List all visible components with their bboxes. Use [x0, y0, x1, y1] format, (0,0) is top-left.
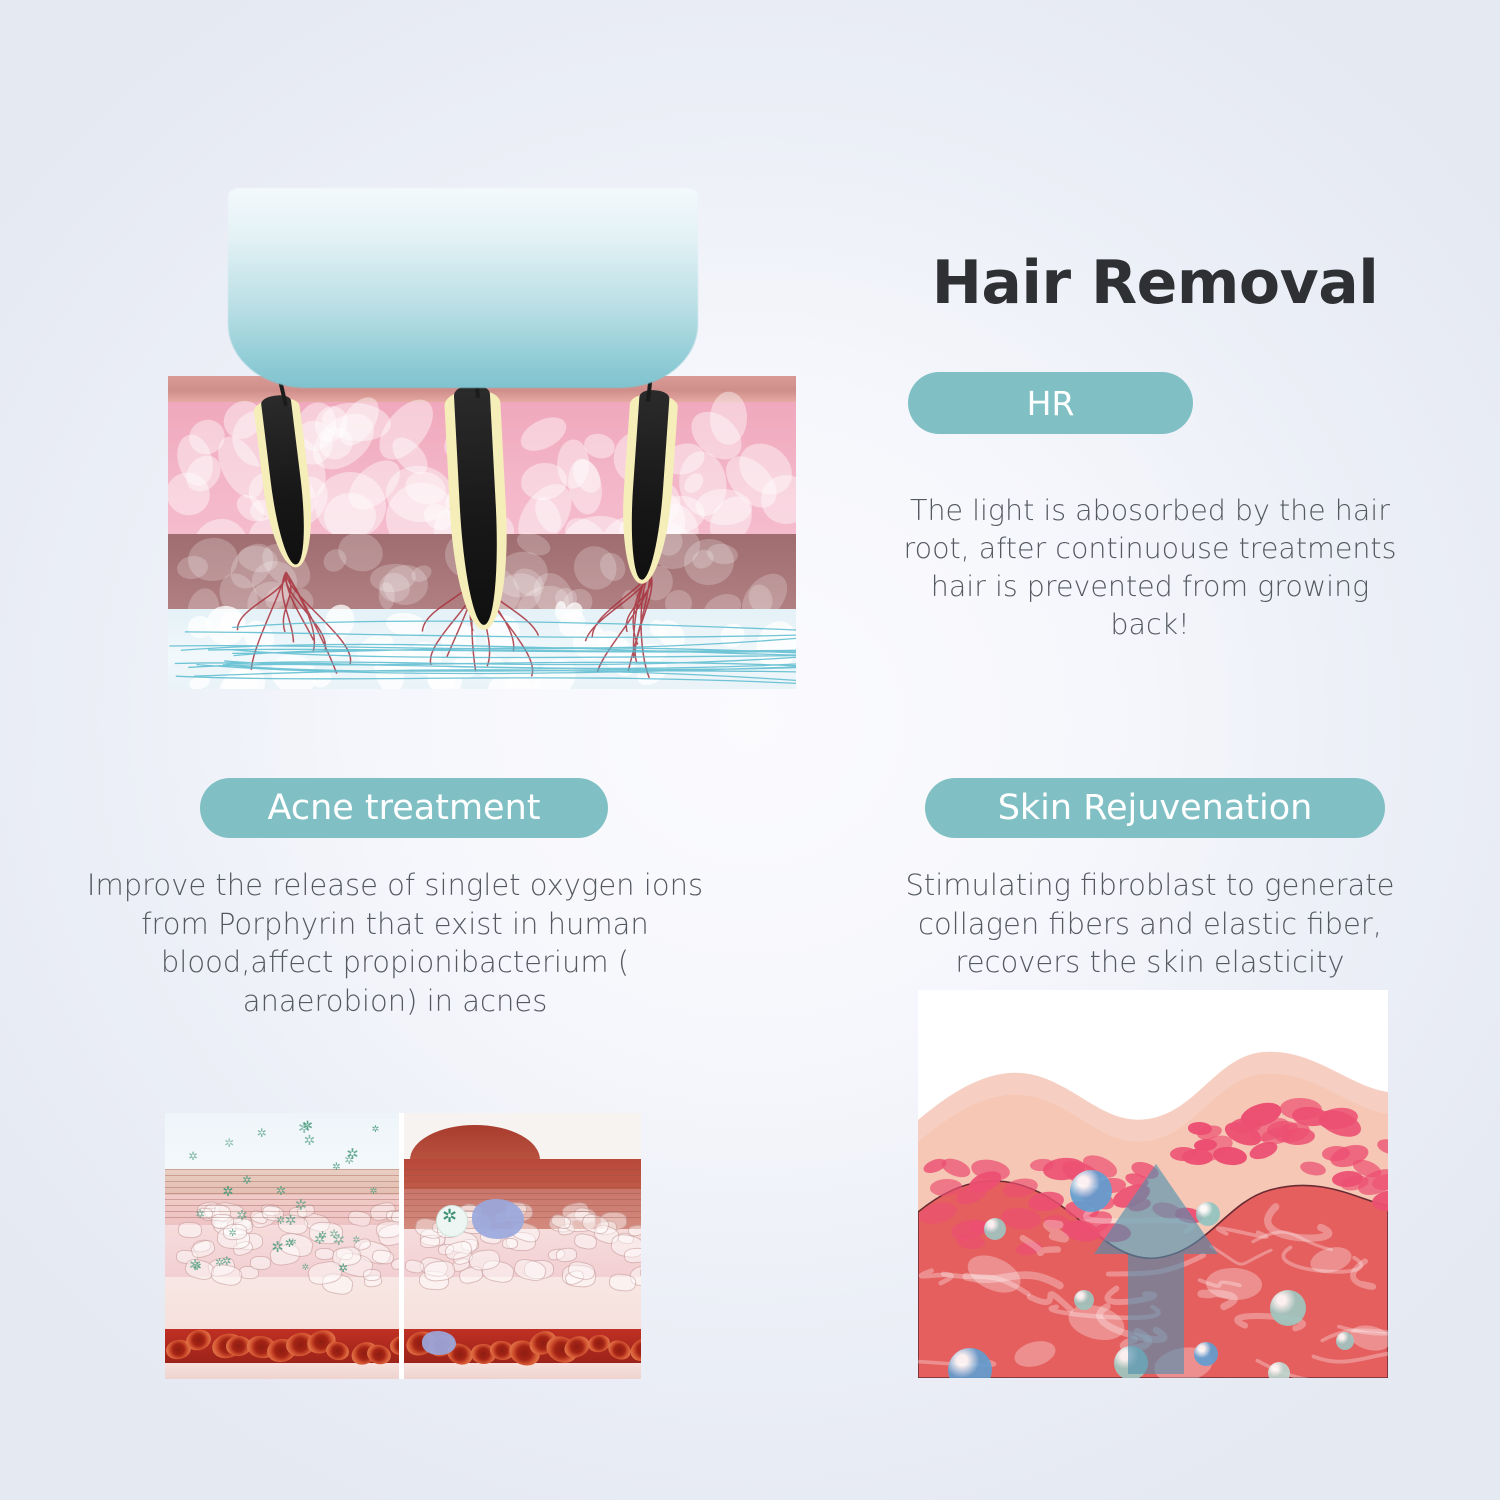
bacteria-particle-icon: ✲: [222, 1187, 233, 1198]
bacteria-particle-icon: ✲: [229, 1228, 237, 1239]
keratinocyte: [177, 1221, 202, 1238]
bacteria-particle-icon: ✲: [298, 1123, 311, 1134]
keratinocyte: [375, 1220, 399, 1240]
acne-inflamed-skin-panel: ✲: [404, 1113, 641, 1379]
epidermal-striation: [404, 1193, 641, 1194]
epidermal-striation: [404, 1187, 641, 1188]
description-hair-removal: The light is abosorbed by the hair root,…: [900, 492, 1400, 644]
bacteria-particle-icon: ✲: [346, 1149, 358, 1160]
upward-light-arrow-icon: [1066, 1158, 1246, 1378]
bacteria-particle-icon: ✲: [352, 1235, 360, 1246]
bacteria-particle-icon: ✲: [371, 1124, 379, 1135]
bacteria-particle-icon: ✲: [285, 1216, 297, 1227]
bacteria-particle-icon: ✲: [370, 1186, 378, 1197]
description-skin-rejuvenation: Stimulating fibroblast to generate colla…: [900, 866, 1400, 982]
bacteria-particle-icon: ✲: [242, 1175, 252, 1186]
infographic-page: Hair Removal HR The light is abosorbed b…: [0, 0, 1500, 1500]
bacteria-particle-icon: ✲: [295, 1200, 308, 1211]
bacteria-particle-icon: ✲: [332, 1162, 341, 1173]
bacteria-particle-icon: ✲: [271, 1242, 283, 1253]
skin-rejuvenation-illustration: [918, 990, 1388, 1378]
acne-healthy-skin-panel: ✲✲✲✲✲✲✲✲✲✲✲✲✲✲✲✲✲✲✲✲✲✲✲✲✲✲✲✲✲✲✲✲✲✲: [165, 1113, 399, 1379]
bacteria-particle-icon: ✲: [276, 1186, 286, 1197]
bacteria-particle-icon: ✲: [188, 1151, 198, 1162]
epidermal-striation: [165, 1205, 399, 1206]
energy-particle: [1268, 1362, 1290, 1378]
epidermal-striation: [404, 1175, 641, 1176]
epidermal-striation: [404, 1169, 641, 1170]
bacteria-particle-icon: ✲: [195, 1209, 205, 1220]
keratinocyte: [501, 1237, 518, 1248]
epidermal-striation: [165, 1169, 399, 1170]
page-title: Hair Removal: [905, 252, 1405, 315]
epidermal-striation: [165, 1175, 399, 1176]
bacteria-particle-icon: ✲: [314, 1235, 326, 1246]
panel-divider: [399, 1113, 404, 1379]
bacteria-particle-icon: ✲: [192, 1261, 201, 1272]
keratinocyte: [249, 1256, 270, 1270]
bacteria-particle-icon: ✲: [332, 1235, 344, 1246]
bacteria-particle-icon: ✲: [301, 1263, 309, 1274]
keratinocyte: [623, 1247, 641, 1264]
bacteria-particle-icon: ✲: [338, 1263, 348, 1274]
keratinocyte: [363, 1269, 381, 1281]
energy-particle: [1270, 1290, 1306, 1326]
bacteria-particle-icon: ✲: [222, 1256, 232, 1267]
bacteria-particle-icon: ✲: [257, 1128, 267, 1139]
bacteria-particle-icon: ✲: [289, 1237, 297, 1248]
device-head-icon: [228, 188, 698, 388]
bacteria-particle-icon: ✲: [304, 1136, 316, 1147]
epidermal-striation: [165, 1199, 399, 1200]
energy-particle: [984, 1218, 1006, 1240]
epidermal-striation: [404, 1205, 641, 1206]
badge-acne-treatment[interactable]: Acne treatment: [200, 778, 608, 838]
energy-particle: [1336, 1332, 1354, 1350]
hair-removal-illustration: [168, 376, 796, 689]
white-blood-cell-vessel: [422, 1331, 456, 1355]
skin-cross-section: [168, 376, 796, 689]
keratinocyte: [315, 1248, 334, 1261]
badge-hair-removal[interactable]: HR: [908, 372, 1193, 434]
badge-skin-rejuvenation[interactable]: Skin Rejuvenation: [925, 778, 1385, 838]
acne-treatment-illustration: ✲✲✲✲✲✲✲✲✲✲✲✲✲✲✲✲✲✲✲✲✲✲✲✲✲✲✲✲✲✲✲✲✲✲ ✲: [165, 1113, 641, 1379]
bacteria-in-macrophage-icon: ✲: [442, 1211, 457, 1222]
epidermal-striation: [404, 1181, 641, 1182]
white-blood-cell: [472, 1199, 524, 1239]
description-acne-treatment: Improve the release of singlet oxygen io…: [70, 866, 720, 1020]
epidermal-striation: [404, 1199, 641, 1200]
epidermal-striation: [165, 1181, 399, 1182]
bacteria-particle-icon: ✲: [236, 1211, 248, 1222]
bacteria-particle-icon: ✲: [224, 1138, 234, 1149]
